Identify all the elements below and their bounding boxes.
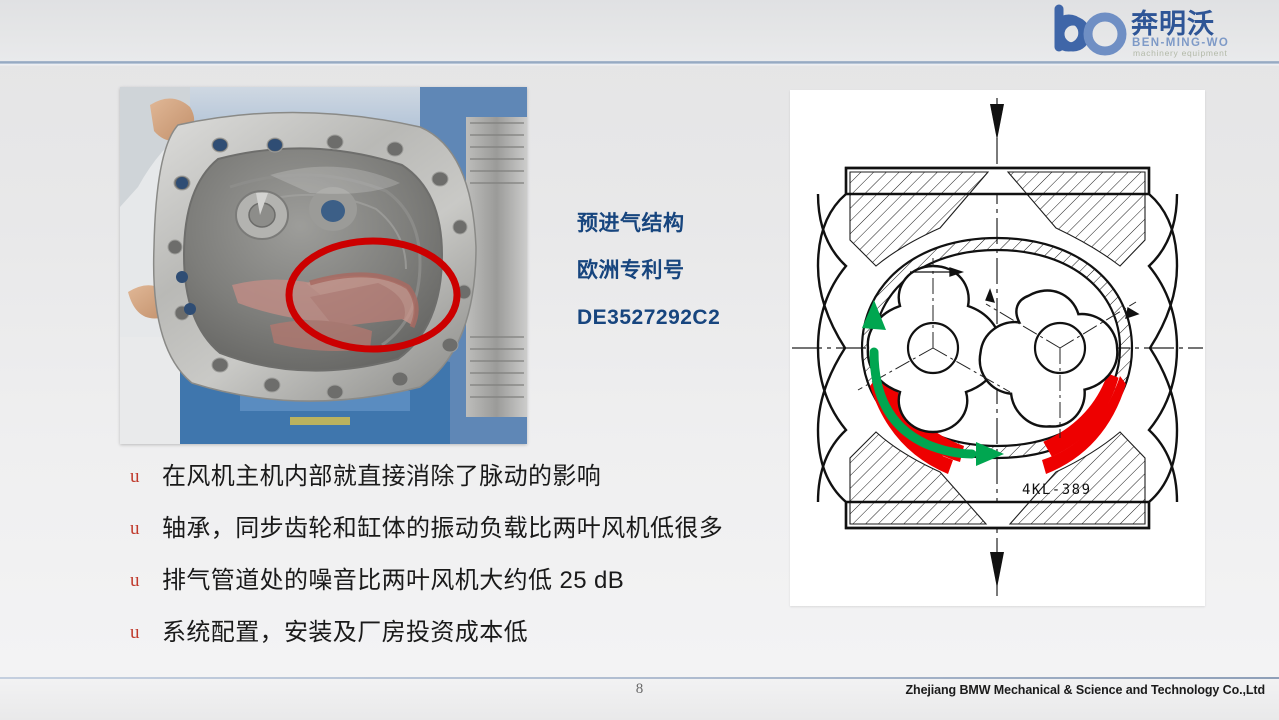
diagram-label: 4KL-389 — [1022, 482, 1092, 498]
photo-artwork — [120, 87, 527, 444]
logo-tagline: machinery equipment — [1133, 48, 1228, 58]
svg-text:奔明沃: 奔明沃 — [1131, 9, 1215, 40]
list-item: u 轴承，同步齿轮和缸体的振动负载比两叶风机低很多 — [122, 512, 822, 564]
bullet-list: u 在风机主机内部就直接消除了脉动的影响 u 轴承，同步齿轮和缸体的振动负载比两… — [122, 460, 822, 668]
company-name: Zhejiang BMW Mechanical & Science and Te… — [906, 683, 1266, 697]
list-item: u 排气管道处的噪音比两叶风机大约低 25 dB — [122, 564, 822, 616]
bullet-text: 排气管道处的噪音比两叶风机大约低 25 dB — [162, 564, 624, 598]
bullet-marker-icon: u — [122, 616, 162, 650]
blower-cross-section-diagram: 4KL-389 — [790, 90, 1205, 606]
header-divider-highlight — [0, 64, 1279, 66]
logo-artwork: 奔明沃 BEN-MING-WO machinery equipment — [1047, 3, 1267, 59]
diagram-artwork: 4KL-389 — [790, 90, 1205, 606]
rotors — [868, 266, 1118, 432]
bullet-marker-icon: u — [122, 512, 162, 546]
bullet-marker-icon: u — [122, 460, 162, 494]
logo-chinese-name: 奔明沃 — [1131, 9, 1215, 40]
bullet-text: 轴承，同步齿轮和缸体的振动负载比两叶风机低很多 — [162, 512, 723, 546]
list-item: u 系统配置，安装及厂房投资成本低 — [122, 616, 822, 668]
svg-text:machinery equipment: machinery equipment — [1133, 48, 1228, 58]
company-logo: 奔明沃 BEN-MING-WO machinery equipment — [1047, 3, 1267, 59]
list-item: u 在风机主机内部就直接消除了脉动的影响 — [122, 460, 822, 512]
blower-housing-photo — [120, 87, 527, 444]
flow-arrow-bottom — [990, 552, 1004, 588]
bullet-text: 在风机主机内部就直接消除了脉动的影响 — [162, 460, 601, 494]
bullet-text: 系统配置，安装及厂房投资成本低 — [162, 616, 528, 650]
shaft-hole — [321, 200, 345, 222]
slide: 奔明沃 BEN-MING-WO machinery equipment — [0, 0, 1279, 720]
bullet-marker-icon: u — [122, 564, 162, 598]
bo-monogram-icon — [1059, 9, 1122, 51]
flow-arrow-top — [990, 104, 1004, 140]
